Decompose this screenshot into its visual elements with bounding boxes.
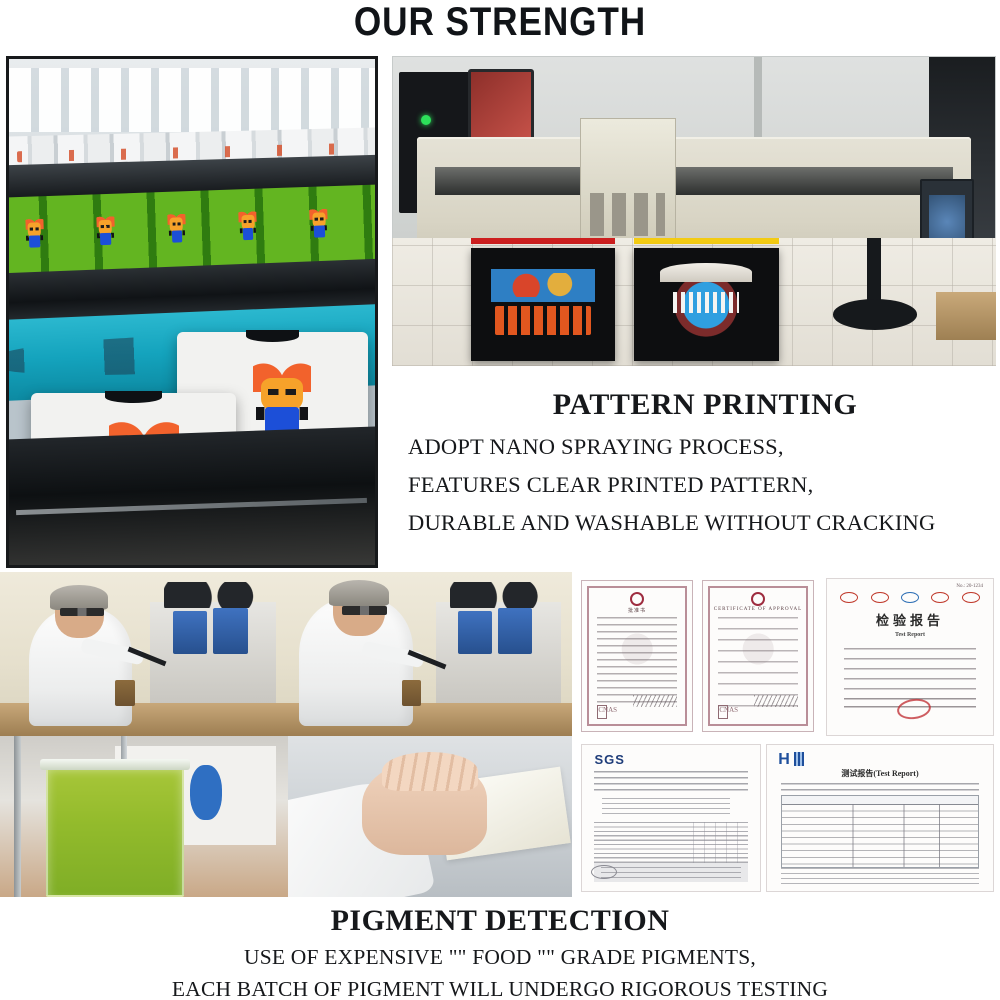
test-report-title-cn: 检验报告	[827, 610, 993, 629]
watermark	[606, 626, 668, 671]
black-tee-sharks	[634, 248, 779, 361]
sharks-print	[654, 262, 758, 345]
page-title: OUR STRENGTH	[60, 0, 940, 48]
pattern-printing-line-1: ADOPT NANO SPRAYING PROCESS,	[392, 434, 1000, 460]
photo-lab-technician-1	[0, 572, 288, 736]
hk-results-table	[781, 795, 980, 868]
poster-root: OUR STRENGTH	[0, 0, 1000, 1000]
photo-green-pigment-beaker	[0, 736, 288, 897]
cnas-logo-icon	[901, 592, 919, 603]
print-head-carriage	[580, 118, 676, 247]
certificate-approval-cn: 批准书 CNAS	[581, 580, 693, 732]
beaker-rim	[40, 759, 190, 770]
certificate-body-text	[718, 617, 797, 707]
green-pigment-liquid	[46, 762, 184, 897]
certificate-test-report-cn: No.: 20-1234 检验报告 Test Report	[826, 578, 994, 736]
technician-hair	[329, 580, 389, 606]
bull-mascot-icon	[310, 205, 329, 240]
sgs-results-table	[594, 822, 747, 866]
blue-mixer-motor	[498, 608, 532, 654]
pigment-detection-heading: PIGMENT DETECTION	[0, 904, 1000, 938]
certificate-body-text	[597, 617, 676, 707]
pattern-printing-line-3: DURABLE AND WASHABLE WITHOUT CRACKING	[392, 510, 1000, 536]
cnas-mark: CNAS	[718, 705, 728, 719]
pattern-printing-text-block: PATTERN PRINTING ADOPT NANO SPRAYING PRO…	[392, 388, 1000, 558]
cnas-mark: CNAS	[597, 705, 607, 719]
cmc-logo-icon	[931, 592, 949, 603]
printing-line-scene	[9, 59, 375, 565]
hk-report-page: H 测试报告(Test Report)	[766, 744, 994, 892]
certificate-title-en: CERTIFICATE OF APPROVAL	[703, 607, 813, 612]
sgs-meta-lines	[594, 771, 747, 794]
ccc-logo-icon	[871, 592, 889, 603]
blue-mixer-motor	[458, 611, 492, 654]
photo-black-printed-tees	[392, 238, 996, 366]
certificate-approval-en: CERTIFICATE OF APPROVAL CNAS	[702, 580, 814, 732]
lab-clamps	[164, 582, 279, 608]
lab-photo-grid	[0, 572, 572, 897]
bull-mascot-icon	[239, 207, 258, 242]
cardboard-box	[936, 292, 996, 341]
certificate-title-cn: 批准书	[582, 607, 692, 614]
fingers	[382, 752, 479, 791]
junior-company-print	[491, 269, 595, 341]
pigment-detection-line-1: USE OF EXPENSIVE "" FOOD "" GRADE PIGMEN…	[0, 945, 1000, 970]
cnas-seal-icon	[751, 592, 765, 606]
blue-mixer-motor	[213, 608, 248, 654]
sgs-method-block	[602, 798, 730, 818]
glasses-icon	[60, 608, 103, 616]
test-report-page: No.: 20-1234 检验报告 Test Report	[826, 578, 994, 736]
blue-mixer-motor	[173, 611, 208, 654]
watermark	[727, 626, 789, 671]
bull-mascot-icon	[167, 210, 186, 245]
pattern-printing-line-2: FEATURES CLEAR PRINTED PATTERN,	[392, 472, 1000, 498]
cnas-seal-icon	[630, 592, 644, 606]
printer-gantry	[435, 167, 953, 195]
certificate-grid: 批准书 CNAS CERTIFICATE OF APPROVAL CNAS No…	[576, 572, 1000, 897]
machine-base	[6, 427, 378, 568]
photo-lab-technician-2	[288, 572, 572, 736]
photo-printing-line	[6, 56, 378, 568]
certificate-frame: CERTIFICATE OF APPROVAL CNAS	[702, 580, 814, 732]
stand-bar	[14, 736, 21, 897]
technician-hair	[50, 585, 108, 610]
pigment-detection-line-2: EACH BATCH OF PIGMENT WILL UNDERGO RIGOR…	[0, 977, 1000, 1000]
blue-marking	[190, 765, 222, 820]
sample-bottle	[402, 680, 422, 706]
sgs-footer-bar	[594, 863, 747, 882]
red-shirt-edge	[471, 238, 616, 244]
cqc-logo-icon	[840, 592, 858, 603]
hk-brand-logo: H	[778, 751, 804, 769]
signature	[754, 695, 798, 707]
yellow-shirt-edge	[634, 238, 779, 244]
sample-bottle	[115, 680, 135, 706]
certificate-frame: 批准书 CNAS	[581, 580, 693, 732]
test-report-title-en: Test Report	[827, 632, 993, 638]
sgs-logo: SGS	[594, 752, 624, 767]
photo-hand-inspecting-fabric	[288, 736, 572, 897]
certificate-hk-test-report: H 测试报告(Test Report)	[766, 744, 994, 892]
signature	[633, 695, 677, 707]
glasses-icon	[342, 606, 387, 614]
test-report-fields	[844, 648, 977, 692]
ccc-logo-icon-2	[962, 592, 980, 603]
certificate-sgs-report: SGS	[581, 744, 761, 892]
black-tee-junior-company	[471, 248, 616, 361]
accreditation-logos	[840, 588, 979, 607]
sgs-report-page: SGS	[581, 744, 761, 892]
lab-clamps	[450, 582, 564, 608]
hk-report-notes	[781, 868, 980, 886]
black-tees-scene	[392, 238, 996, 366]
hk-report-title: 测试报告(Test Report)	[767, 768, 993, 779]
hk-report-meta	[781, 783, 980, 792]
pigment-detection-text-block: PIGMENT DETECTION USE OF EXPENSIVE "" FO…	[0, 900, 1000, 1000]
bull-mascot-icon	[96, 212, 115, 247]
pattern-printing-heading: PATTERN PRINTING	[392, 388, 1000, 422]
bull-mascot-icon	[25, 215, 44, 250]
